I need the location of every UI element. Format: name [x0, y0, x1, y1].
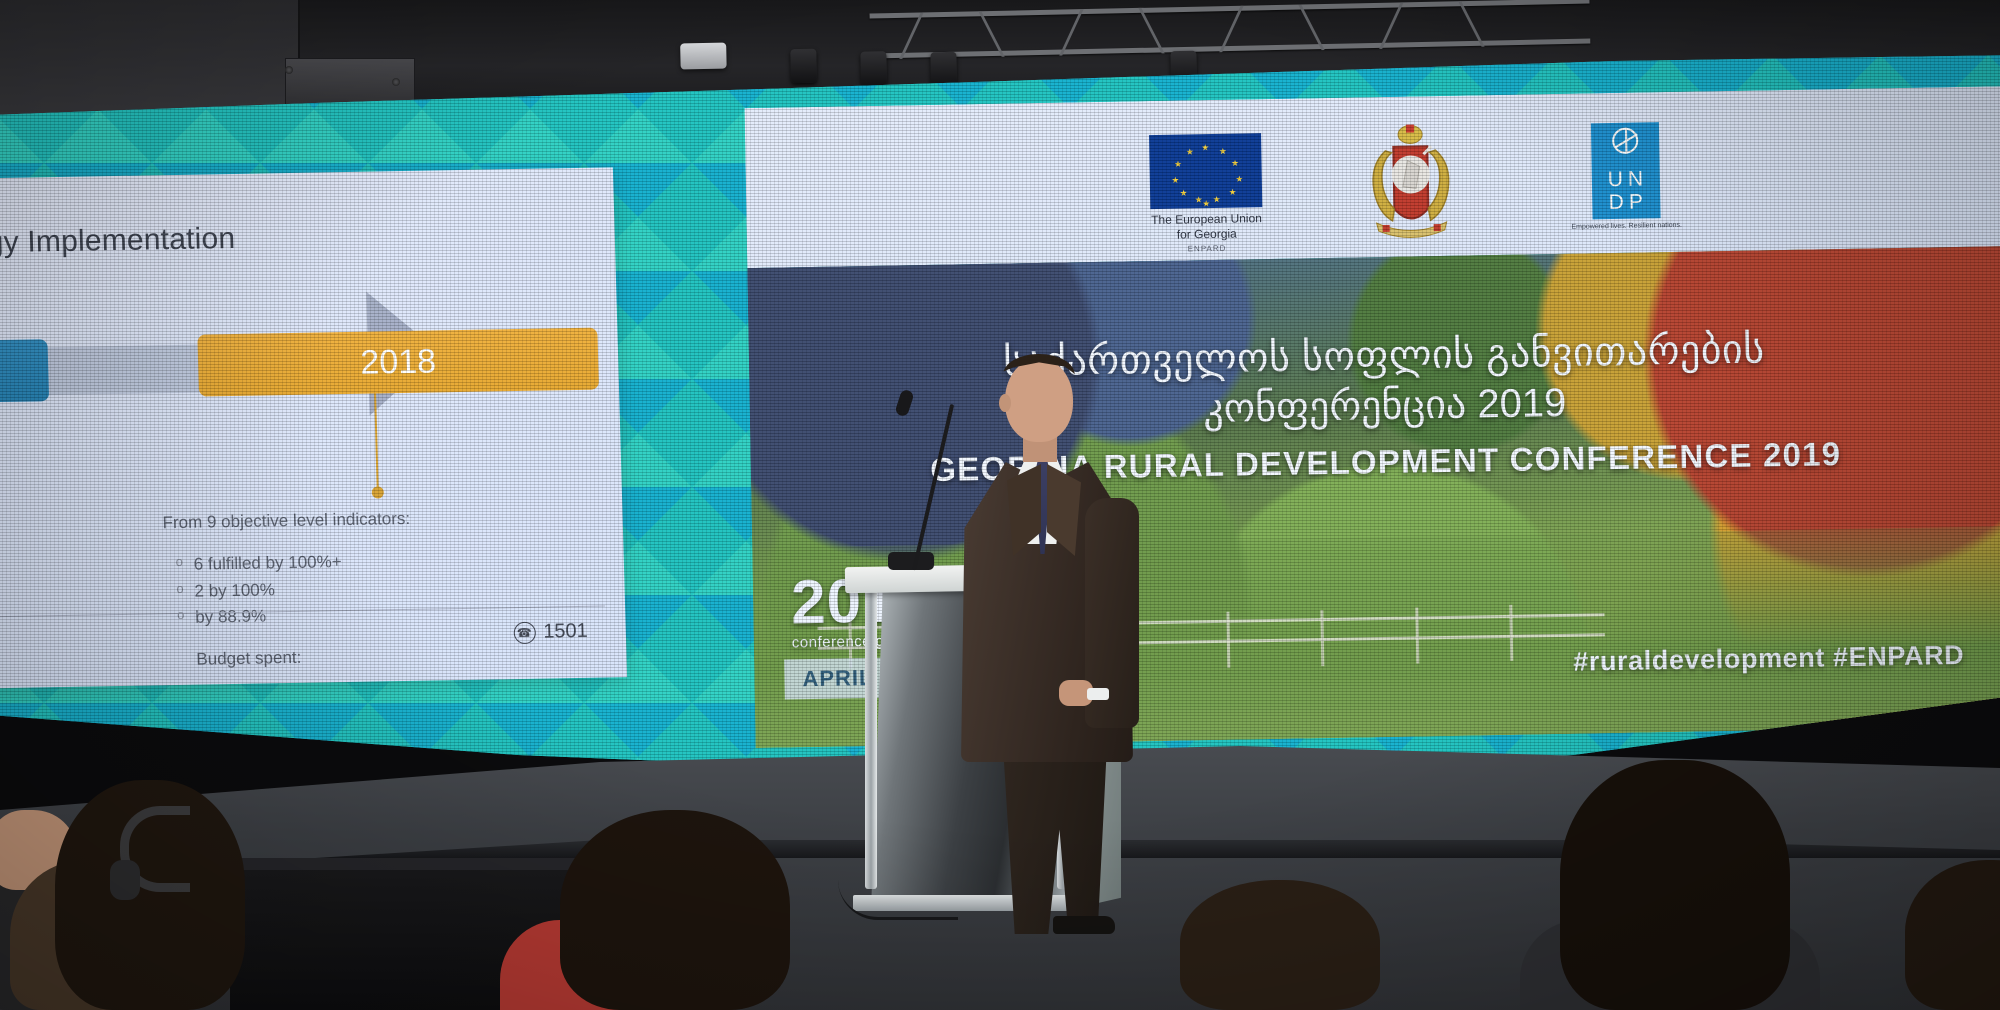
spotlight	[930, 52, 957, 87]
audience-member-right	[1560, 760, 1790, 1010]
column-2018-heading: From 9 objective level indicators:	[162, 503, 603, 537]
presenter-legs	[999, 754, 1111, 934]
column-2018: From 9 objective level indicators: 6 ful…	[162, 503, 608, 693]
eu-caption: The European Union for Georgia ENPARD	[1146, 211, 1267, 255]
budget-label-2018: Budget spent:	[196, 640, 607, 673]
column-2017-bullets: d by 100% or 100%+; d partially; lled.	[0, 554, 96, 640]
left-presentation-slide: ults of the Strategy Implementation 2017…	[0, 167, 627, 692]
undp-logo: U N D P Empowered lives. Resilient natio…	[1565, 122, 1687, 233]
audience-member-center	[560, 810, 790, 1010]
undp-letter: N	[1628, 167, 1645, 190]
microphone-base	[888, 552, 934, 570]
eu-caption-line3: ENPARD	[1147, 243, 1267, 255]
year-badge-2018: 2018	[197, 328, 599, 397]
eu-caption-line1: The European Union	[1151, 211, 1262, 227]
spotlight	[790, 49, 817, 84]
column-2018-bullets: 6 fulfilled by 100%+ 2 by 100% by 88.9%	[193, 545, 605, 631]
footer-phone: ☎ 1501	[513, 620, 588, 644]
year-badge-2017: 2017	[0, 339, 49, 408]
column-2017-heading: level indicators:	[0, 511, 93, 545]
undp-caption: Empowered lives. Resilient nations.	[1567, 221, 1687, 233]
presenter-head	[1005, 358, 1073, 442]
undp-letter: P	[1629, 190, 1644, 213]
ceiling-panel	[0, 0, 300, 118]
slide-header-band: The European Union for Georgia ENPARD	[745, 86, 2000, 268]
conference-hall-scene: ults of the Strategy Implementation 2017…	[0, 0, 2000, 1010]
georgia-coat-of-arms-logo	[1335, 115, 1487, 250]
ceiling-light-dot	[392, 78, 400, 86]
presenter-cuff	[1087, 688, 1109, 700]
presenter-at-podium	[955, 358, 1155, 928]
undp-letter: D	[1608, 191, 1625, 214]
list-item: lled.	[0, 606, 96, 639]
eu-flag-icon	[1149, 133, 1262, 209]
floor-cable	[838, 880, 958, 920]
presenter-ear	[999, 394, 1011, 412]
audience-member-mid-right	[1180, 880, 1380, 1010]
stage-light	[680, 43, 727, 70]
connector-dot-2018	[372, 486, 384, 498]
presenter-shoe	[1053, 916, 1115, 934]
headphone-earcup-icon	[110, 860, 140, 900]
european-union-flag-logo: The European Union for Georgia ENPARD	[1145, 133, 1267, 255]
column-2017: level indicators: d by 100% or 100%+; d …	[0, 511, 98, 692]
undp-mark-icon: U N D P	[1591, 122, 1661, 219]
undp-globe-icon	[1612, 128, 1638, 154]
eu-caption-line2: for Georgia	[1177, 227, 1237, 242]
budget-label-2017: Budget spent:	[0, 649, 97, 682]
footer-phone-number: 1501	[543, 620, 588, 644]
year-2018-label: 2018	[360, 342, 437, 382]
phone-icon: ☎	[513, 621, 536, 643]
logo-row: The European Union for Georgia ENPARD	[1145, 111, 1707, 241]
slide-title: ults of the Strategy Implementation	[0, 222, 236, 264]
spotlight	[860, 51, 887, 86]
ceiling-light-dot	[285, 66, 293, 74]
undp-letter: U	[1608, 168, 1625, 191]
podium-rail	[865, 589, 877, 889]
